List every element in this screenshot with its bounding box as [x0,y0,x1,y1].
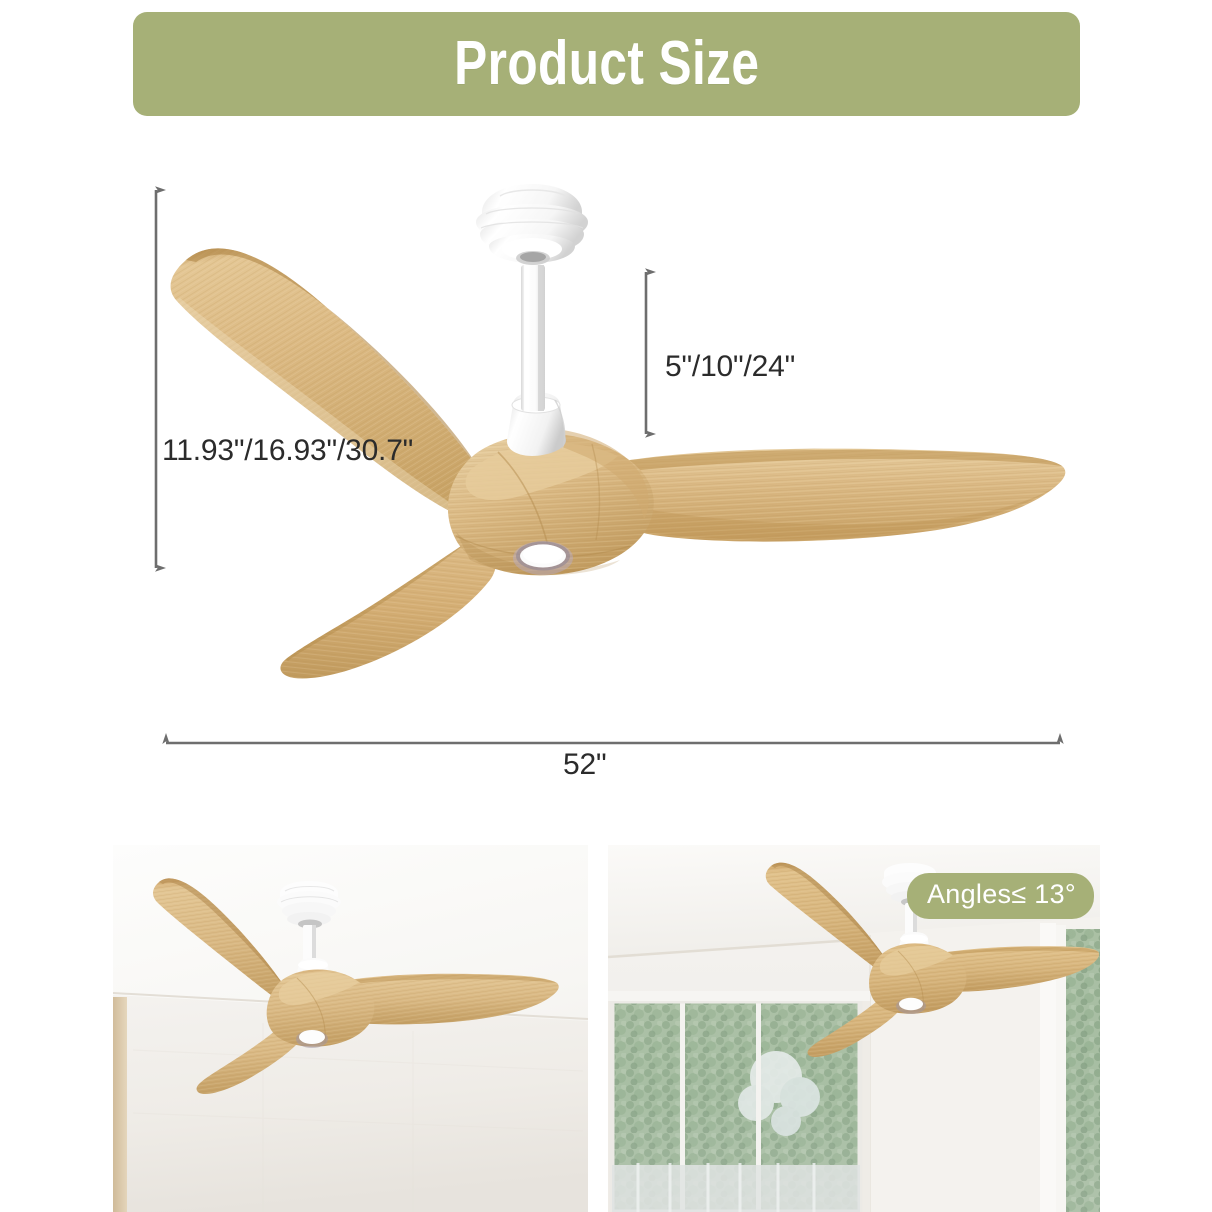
lifestyle-photo-right: Angles≤ 13° [608,845,1100,1212]
angles-badge: Angles≤ 13° [907,873,1094,919]
dimension-label-width: 52" [563,748,606,782]
product-size-infographic: Product Size [0,0,1212,1212]
fan-blade-lower-left [280,538,496,679]
dimension-label-downrod: 5"/10"/24" [665,350,795,384]
window-left [612,1001,860,1212]
fan-canopy [476,184,588,265]
fan-blade-right [598,449,1066,542]
dimension-label-height: 11.93"/16.93"/30.7" [162,434,413,468]
ceiling-fan-diagram [0,0,1212,840]
fan-downrod [521,265,545,411]
fan-blade-upper-left [171,248,496,523]
lifestyle-photo-left [113,845,588,1212]
